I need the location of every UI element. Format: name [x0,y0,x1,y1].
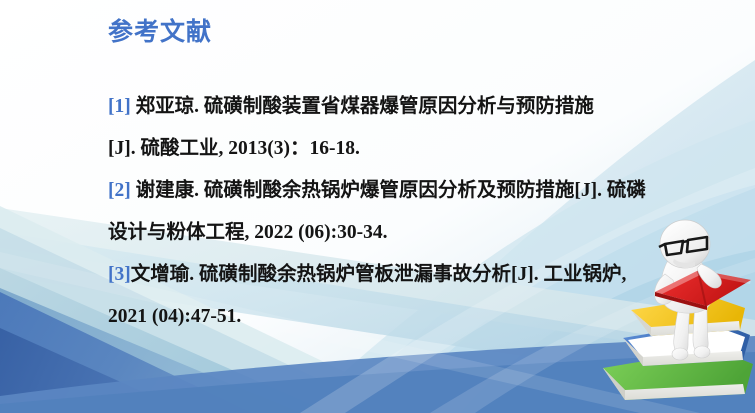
reference-text-6: 2021 (04):47-51. [108,306,241,327]
reference-text-5: 文增瑜. 硫磺制酸余热锅炉管板泄漏事故分析[J]. 工业锅炉, [131,264,627,285]
reading-figure-illustration [595,218,755,413]
slide-content: 参考文献 [1] 郑亚琼. 硫磺制酸装置省煤器爆管原因分析与预防措施 [J]. … [0,0,755,413]
page-title: 参考文献 [108,18,212,48]
reference-text-2: [J]. 硫酸工业, 2013(3)：16-18. [108,138,360,159]
reference-text-3: 谢建康. 硫磺制酸余热锅炉爆管原因分析及预防措施[J]. 硫磷 [136,180,646,201]
reference-number-3: [2] [108,180,136,201]
reference-number-1: [1] [108,96,136,117]
reference-line-1: [1] 郑亚琼. 硫磺制酸装置省煤器爆管原因分析与预防措施 [108,86,698,128]
reference-line-2: [J]. 硫酸工业, 2013(3)：16-18. [108,128,698,170]
reference-number-5: [3] [108,264,131,285]
person-reading-on-books-graphic [595,218,755,413]
reference-line-3: [2] 谢建康. 硫磺制酸余热锅炉爆管原因分析及预防措施[J]. 硫磷 [108,170,698,212]
slide-canvas: 参考文献 [1] 郑亚琼. 硫磺制酸装置省煤器爆管原因分析与预防措施 [J]. … [0,0,755,413]
reference-text-4: 设计与粉体工程, 2022 (06):30-34. [108,222,387,243]
reference-text-1: 郑亚琼. 硫磺制酸装置省煤器爆管原因分析与预防措施 [136,96,594,117]
